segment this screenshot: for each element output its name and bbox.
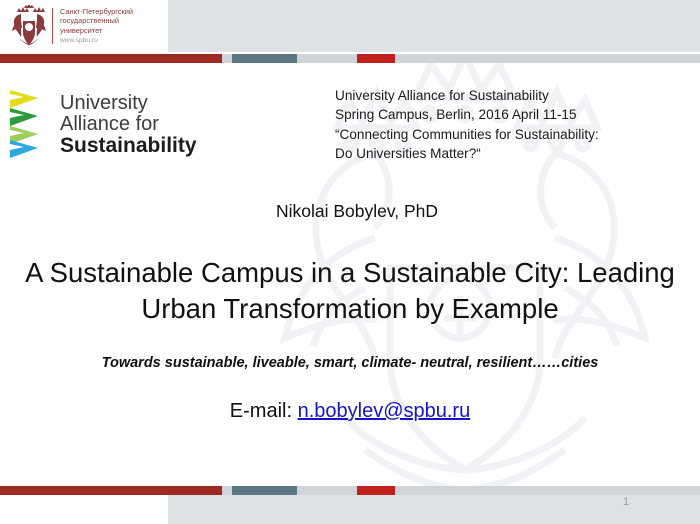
spbu-text: Санкт-Петербургский государственный унив… <box>60 7 133 45</box>
presentation-slide: Санкт-Петербургский государственный унив… <box>0 0 700 524</box>
uas-line-3: Sustainability <box>60 135 197 156</box>
spbu-line-1: Санкт-Петербургский <box>60 7 133 17</box>
rule-red-segment <box>357 486 395 495</box>
uas-line-1: University <box>60 93 197 114</box>
event-info-block: University Alliance for Sustainability S… <box>335 86 599 164</box>
uas-wordmark: University Alliance for Sustainability <box>60 93 197 156</box>
spbu-url: www.spbu.ru <box>60 36 133 46</box>
double-headed-eagle-emblem-icon <box>10 5 48 47</box>
event-line-1: University Alliance for Sustainability <box>335 86 599 105</box>
rule-dark-red-segment <box>0 54 222 63</box>
page-title: A Sustainable Campus in a Sustainable Ci… <box>18 255 682 327</box>
event-line-2: Spring Campus, Berlin, 2016 April 11-15 <box>335 105 599 124</box>
email-label: E-mail: <box>230 400 292 422</box>
event-line-3: “Connecting Communities for Sustainabili… <box>335 125 599 144</box>
spbu-logo: Санкт-Петербургский государственный унив… <box>0 0 168 52</box>
rule-steel-segment <box>232 54 297 63</box>
event-line-4: Do Universities Matter?“ <box>335 144 599 163</box>
author-name: Nikolai Bobylev, PhD <box>0 201 700 222</box>
subtitle-tagline: Towards sustainable, liveable, smart, cl… <box>0 355 700 371</box>
top-decor-rule <box>0 54 700 63</box>
author-name-text: Nikolai Bobylev, PhD <box>262 201 438 221</box>
uas-zigzag-chevron-logo-icon <box>8 88 50 160</box>
rule-red-segment <box>357 54 395 63</box>
spbu-line-3: университет <box>60 26 133 36</box>
uas-logo: University Alliance for Sustainability <box>8 88 197 160</box>
slide-number: 1 <box>612 496 640 508</box>
title-line-2: Urban Transformation by Example <box>18 291 682 327</box>
bottom-decor-rule <box>0 486 700 495</box>
email-line: E-mail: n.bobylev@spbu.ru <box>0 400 700 423</box>
rule-steel-segment <box>232 486 297 495</box>
title-line-1: A Sustainable Campus in a Sustainable Ci… <box>18 255 682 291</box>
spbu-divider <box>52 8 53 44</box>
uas-line-2: Alliance for <box>60 114 197 135</box>
rule-dark-red-segment <box>0 486 222 495</box>
email-link[interactable]: n.bobylev@spbu.ru <box>298 400 471 422</box>
spbu-line-2: государственный <box>60 16 133 26</box>
